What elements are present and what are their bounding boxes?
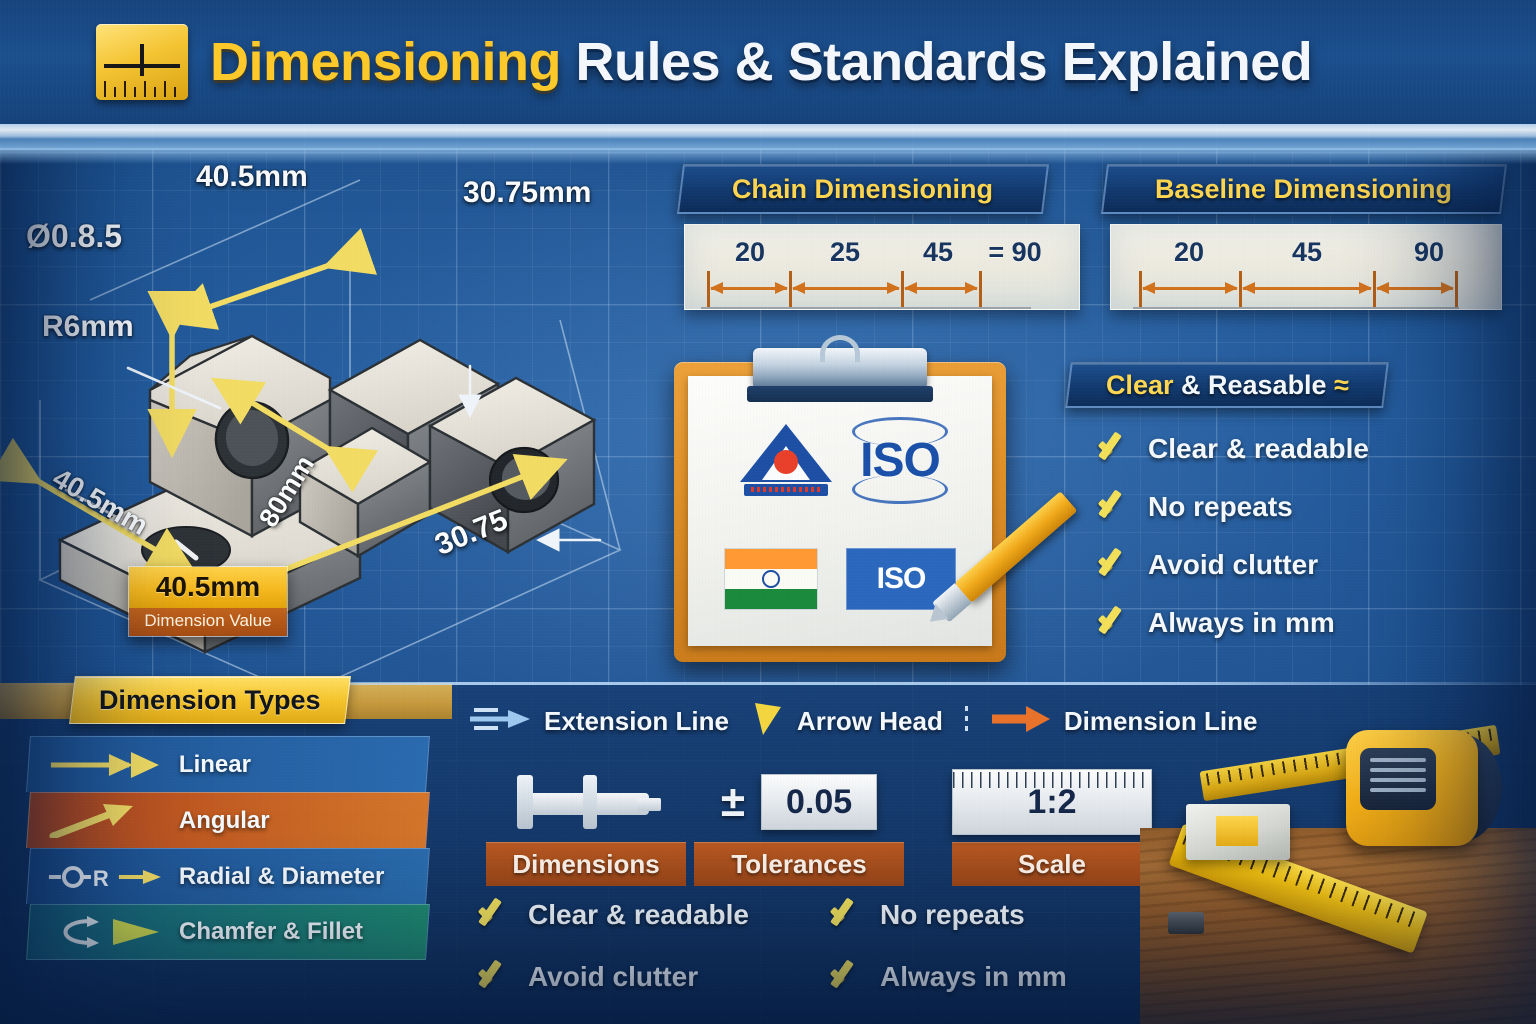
- dimension-type-label-radial: Radial & Diameter: [179, 863, 384, 891]
- baseline-dimension-line-1: [1143, 287, 1237, 290]
- bis-logo-icon: [740, 424, 832, 496]
- feature-card-label-scale: Scale: [952, 842, 1152, 886]
- arrow-head-icon: [751, 701, 785, 742]
- chain-value-2: 25: [830, 237, 860, 268]
- bottom-check-item-3: Avoid clutter: [476, 960, 698, 994]
- dimension-type-linear[interactable]: Linear: [26, 736, 430, 792]
- callout-caption: Dimension Value: [129, 608, 287, 636]
- feature-card-scale[interactable]: 1:2 Scale: [952, 762, 1152, 886]
- radial-diameter-icon: R: [47, 860, 165, 894]
- chain-dimension-line-2: [793, 287, 899, 290]
- check-icon: [828, 960, 864, 994]
- chain-dimensioning-header: Chain Dimensioning: [677, 164, 1049, 214]
- bottom-check-label-4: Always in mm: [880, 961, 1067, 993]
- bottom-check-item-4: Always in mm: [828, 960, 1067, 994]
- dimension-type-label-chamfer: Chamfer & Fillet: [179, 918, 363, 946]
- infographic-canvas: 40.5mm 30.75mm Ø0.8.5 R6mm 40.5mm 80mm 3…: [0, 0, 1536, 1024]
- baseline-base: [1133, 307, 1459, 309]
- dim-label-top-40-5: 40.5mm: [196, 160, 308, 194]
- measured-block: [1186, 804, 1290, 860]
- dimension-types-title-label: Dimension Types: [99, 685, 321, 716]
- linear-arrow-icon: [47, 748, 165, 782]
- dim-label-30-75mm: 30.75mm: [463, 176, 591, 210]
- check-icon: [1096, 490, 1132, 524]
- chain-baseline: [701, 307, 1031, 309]
- tape-case: [1346, 730, 1478, 846]
- svg-text:R: R: [93, 866, 109, 891]
- dimension-types-list: Linear Angular R: [28, 736, 428, 960]
- baseline-dimensioning-panel: 20 45 90: [1110, 224, 1502, 310]
- legend-divider: [965, 706, 968, 736]
- clear-title-white: & Reasable: [1181, 370, 1327, 400]
- header-title-group: Dimensioning Rules & Standards Explained: [96, 24, 1312, 100]
- dimension-line-icon: [990, 704, 1052, 739]
- chain-value-1: 20: [735, 237, 765, 268]
- check-icon: [1096, 606, 1132, 640]
- feature-card-dimensions[interactable]: Dimensions: [486, 762, 686, 886]
- check-icon: [1096, 432, 1132, 466]
- baseline-dimension-line-3: [1377, 287, 1453, 290]
- legend-label-arrow-head: Arrow Head: [797, 706, 943, 737]
- india-flag-icon: [724, 548, 818, 610]
- legend-extension-line: Extension Line: [470, 702, 729, 741]
- clipboard-clip-icon: [753, 348, 927, 390]
- baseline-extension-tick-4: [1455, 271, 1458, 307]
- clear-readable-header: Clear & Reasable ≈: [1065, 362, 1389, 408]
- chamfer-fillet-icon: [47, 915, 165, 949]
- clipboard-clip-bar: [747, 386, 933, 402]
- check-icon: [1096, 548, 1132, 582]
- chain-title: Chain Dimensioning: [732, 174, 993, 205]
- plus-minus-icon: ±: [721, 777, 745, 827]
- scale-value: 1:2: [1027, 783, 1076, 822]
- clear-check-item-1: Clear & readable: [1096, 432, 1369, 466]
- isometric-part-drawing: 40.5mm 30.75mm Ø0.8.5 R6mm 40.5mm 80mm 3…: [0, 150, 660, 678]
- clear-readable-title: Clear & Reasable ≈: [1106, 370, 1349, 401]
- feature-card-label-dimensions: Dimensions: [486, 842, 686, 886]
- page-header: Dimensioning Rules & Standards Explained: [0, 0, 1536, 124]
- dimension-types-title: Dimension Types: [69, 676, 350, 724]
- baseline-title: Baseline Dimensioning: [1155, 174, 1452, 205]
- clear-check-item-2: No repeats: [1096, 490, 1293, 524]
- standards-clipboard: ISO ISO: [674, 362, 1006, 662]
- ruler-icon: 1:2: [952, 769, 1152, 835]
- legend-arrow-head: Arrow Head: [751, 701, 943, 742]
- baseline-value-1: 20: [1174, 237, 1204, 268]
- bottom-check-label-3: Avoid clutter: [528, 961, 698, 993]
- tape-hook: [1168, 912, 1204, 934]
- bottom-check-item-1: Clear & readable: [476, 898, 749, 932]
- tolerance-icon-group: ± 0.05: [694, 762, 904, 842]
- bottom-check-label-1: Clear & readable: [528, 899, 749, 931]
- dimension-value-callout: 40.5mm Dimension Value: [128, 566, 288, 637]
- dim-label-radius: R6mm: [42, 310, 134, 344]
- iso-logo-icon: ISO: [860, 433, 940, 488]
- clear-check-label-2: No repeats: [1148, 491, 1293, 523]
- chain-dimension-line-3: [905, 287, 977, 290]
- clear-check-item-4: Always in mm: [1096, 606, 1335, 640]
- bottom-check-label-2: No repeats: [880, 899, 1025, 931]
- tape-window-icon: [1360, 748, 1436, 810]
- dimension-type-angular[interactable]: Angular: [26, 792, 430, 848]
- header-rule-divider: [0, 124, 1536, 150]
- angular-arrow-icon: [47, 804, 165, 838]
- dimension-type-chamfer[interactable]: Chamfer & Fillet: [26, 904, 430, 960]
- bottom-check-item-2: No repeats: [828, 898, 1025, 932]
- ruler-square-icon: [96, 24, 188, 100]
- clear-check-label-1: Clear & readable: [1148, 433, 1369, 465]
- chain-extension-tick-4: [979, 271, 982, 307]
- standards-logo-row-top: ISO: [688, 424, 992, 496]
- scale-icon: 1:2: [952, 762, 1152, 842]
- feature-card-tolerances[interactable]: ± 0.05 Tolerances: [694, 762, 904, 886]
- caliper-icon: [486, 762, 686, 842]
- clear-check-label-3: Avoid clutter: [1148, 549, 1318, 581]
- chain-dimensioning-panel: 20 25 45 = 90: [684, 224, 1080, 310]
- dimension-type-label-angular: Angular: [179, 807, 270, 835]
- dim-label-diameter: Ø0.8.5: [26, 218, 122, 255]
- baseline-dimensioning-header: Baseline Dimensioning: [1101, 164, 1507, 214]
- page-title-white: Rules & Standards Explained: [576, 32, 1313, 92]
- clear-title-suffix: ≈: [1334, 370, 1349, 400]
- baseline-value-2: 45: [1292, 237, 1322, 268]
- chain-total: = 90: [988, 237, 1041, 268]
- tolerance-value-plate: 0.05: [761, 774, 877, 830]
- clear-check-item-3: Avoid clutter: [1096, 548, 1318, 582]
- clear-title-gold: Clear: [1106, 370, 1174, 400]
- page-title-gold: Dimensioning: [210, 32, 561, 92]
- dimension-type-label-linear: Linear: [179, 751, 251, 779]
- chain-value-3: 45: [923, 237, 953, 268]
- callout-value: 40.5mm: [129, 567, 287, 608]
- clear-check-label-4: Always in mm: [1148, 607, 1335, 639]
- check-icon: [476, 960, 512, 994]
- extension-line-icon: [470, 702, 532, 741]
- dimension-type-radial[interactable]: R Radial & Diameter: [26, 848, 430, 904]
- page-title: Dimensioning Rules & Standards Explained: [210, 35, 1312, 89]
- baseline-value-3: 90: [1414, 237, 1444, 268]
- check-icon: [828, 898, 864, 932]
- feature-card-label-tolerances: Tolerances: [694, 842, 904, 886]
- chain-dimension-line-1: [711, 287, 787, 290]
- legend-label-extension-line: Extension Line: [544, 706, 729, 737]
- baseline-dimension-line-2: [1243, 287, 1371, 290]
- check-icon: [476, 898, 512, 932]
- tape-measure-illustration: [1140, 694, 1536, 1024]
